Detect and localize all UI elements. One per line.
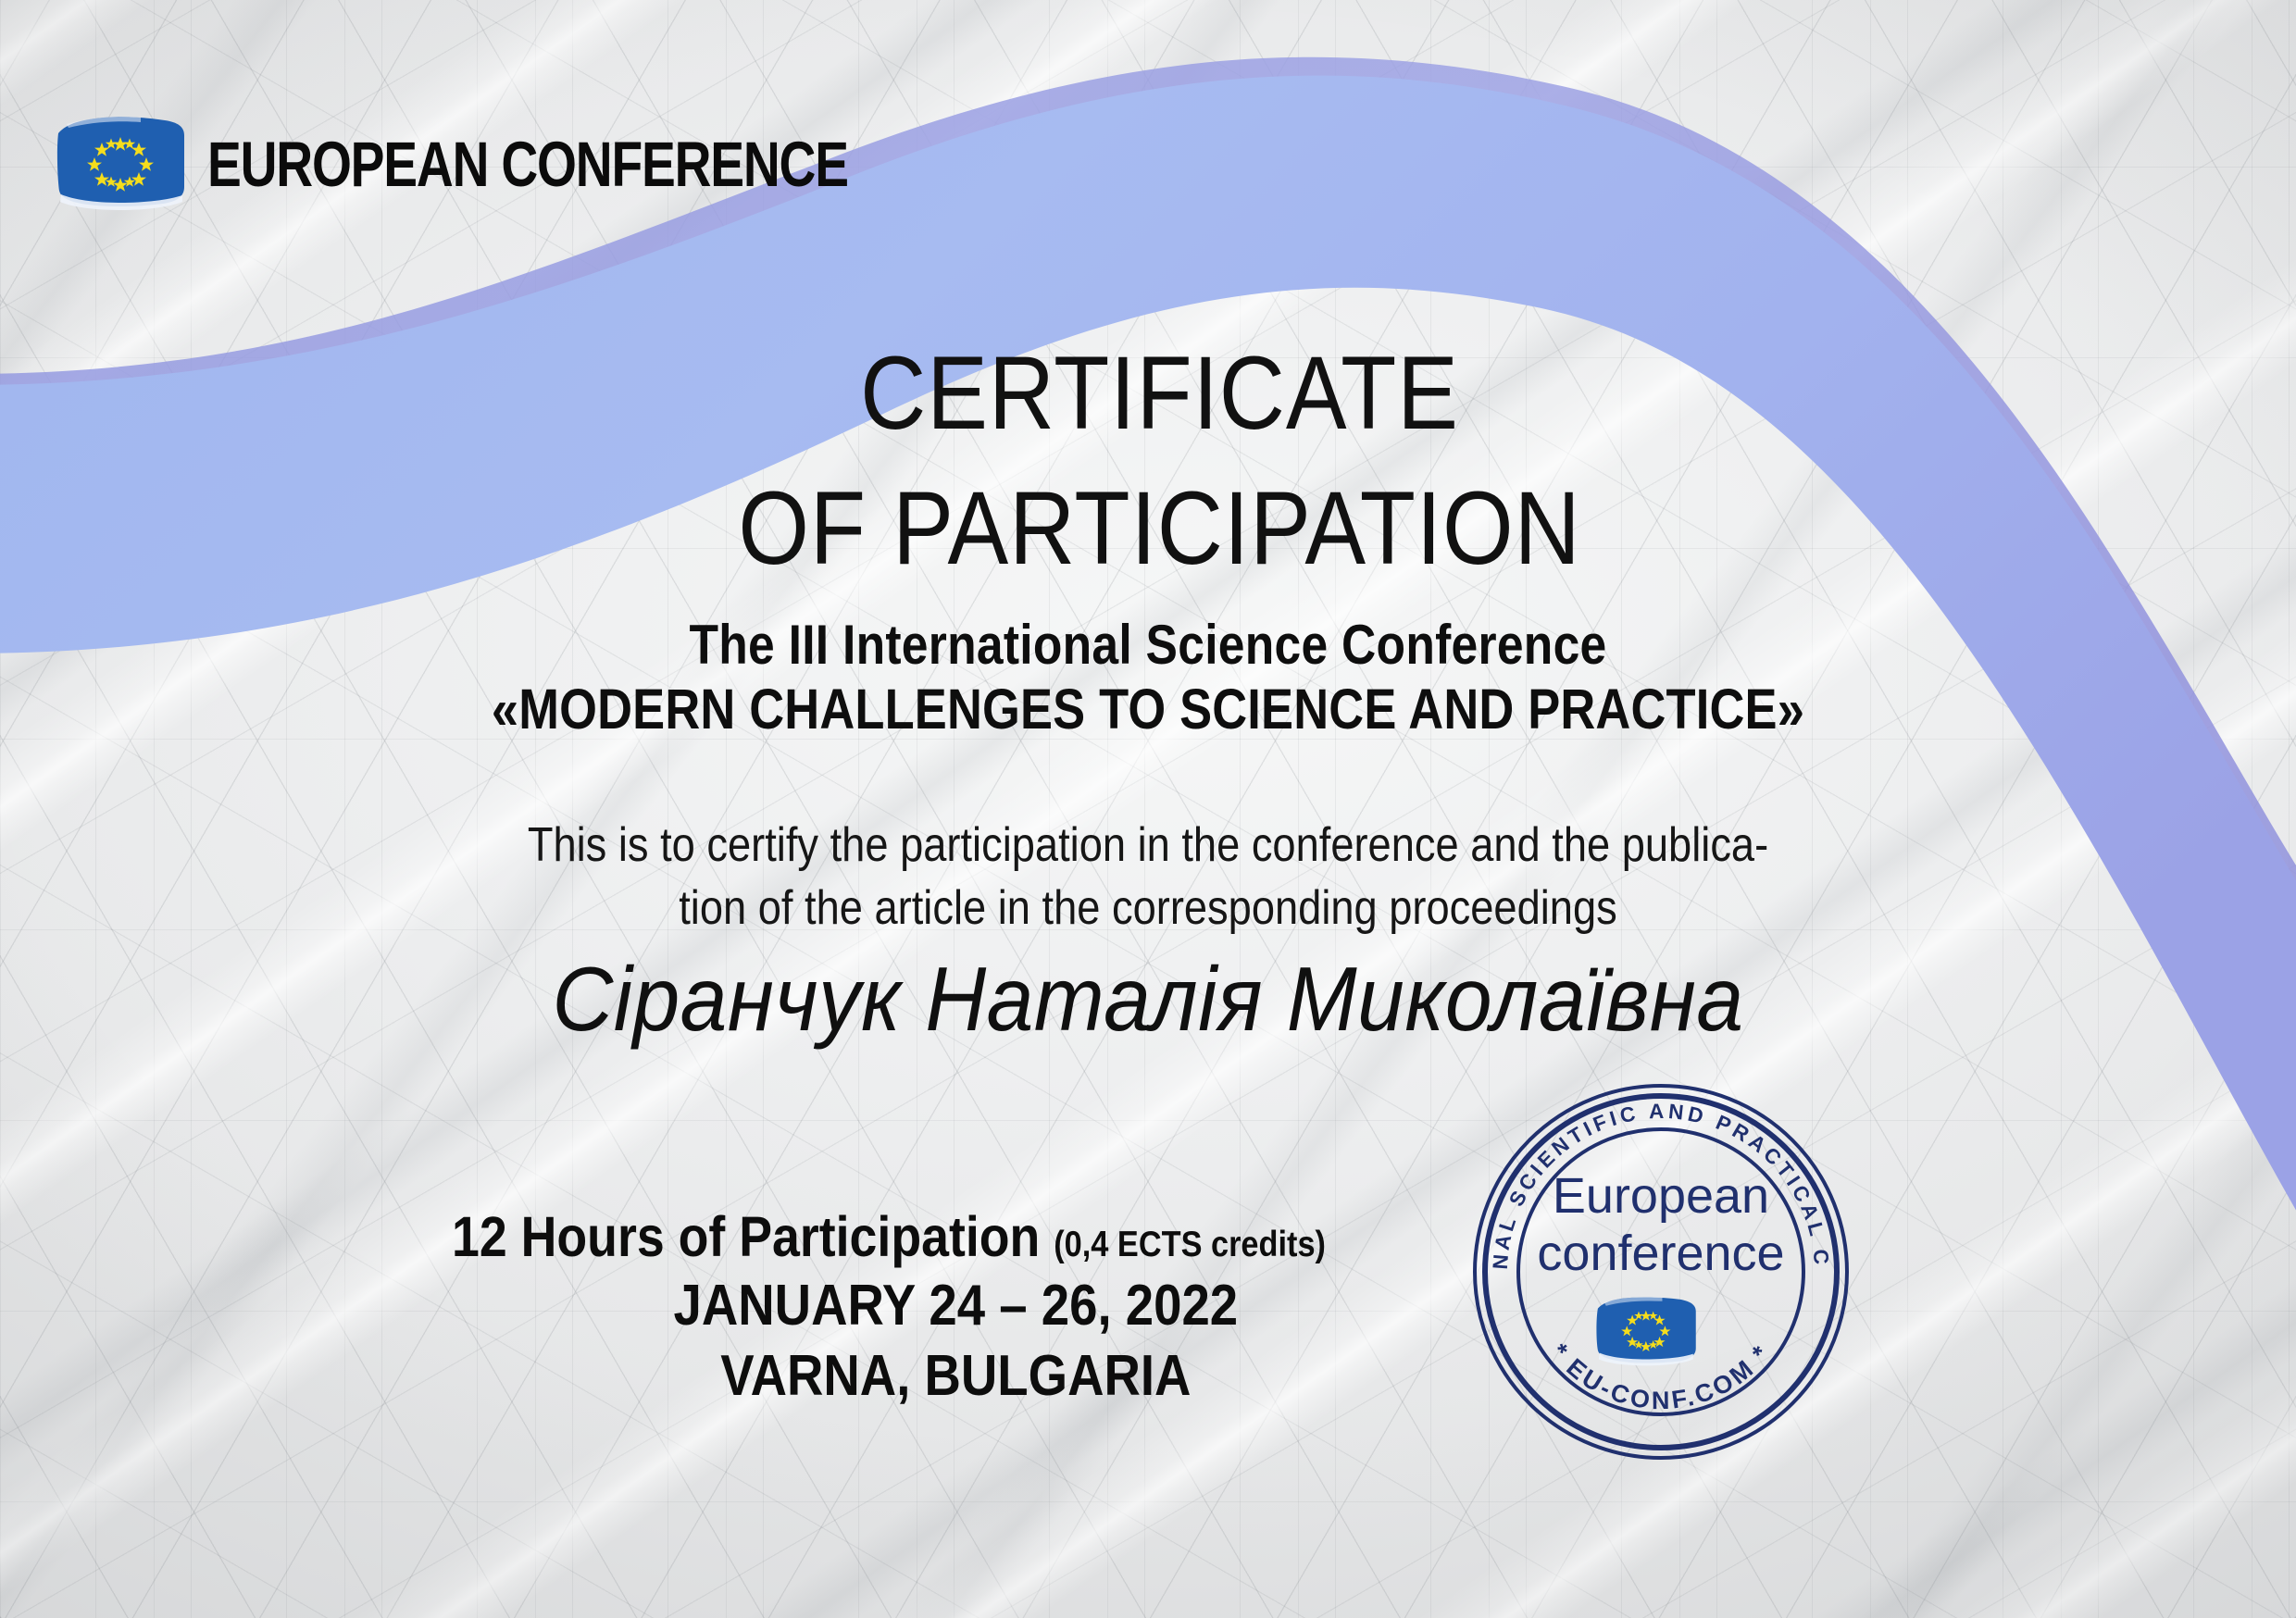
seal-stamp-graphic: INTERNATIONAL SCIENTIFIC AND PRACTICAL C… bbox=[1470, 1081, 1852, 1462]
eu-flag-brush-icon bbox=[52, 109, 191, 218]
title-line-of-participation: OF PARTICIPATION bbox=[159, 461, 2159, 596]
conference-location: VARNA, BULGARIA bbox=[525, 1341, 1386, 1412]
participation-details: 12 Hours of Participation (0,4 ECTS cred… bbox=[452, 1203, 1445, 1411]
page-title: CERTIFICATE OF PARTICIPATION bbox=[0, 326, 2296, 595]
certify-line-2: tion of the article in the corresponding… bbox=[149, 877, 2147, 940]
conference-subtitle: The III International Science Conference bbox=[161, 614, 2136, 677]
certification-statement: This is to certify the participation in … bbox=[0, 815, 2296, 940]
recipient-name: Сіранчук Наталія Миколаївна bbox=[81, 952, 2215, 1047]
certificate-page: EUROPEAN CONFERENCE CERTIFICATE OF PARTI… bbox=[0, 0, 2296, 1618]
conference-dates: JANUARY 24 – 26, 2022 bbox=[525, 1271, 1386, 1341]
title-line-certificate: CERTIFICATE bbox=[159, 326, 2159, 461]
seal-center-line-1: European bbox=[1553, 1168, 1769, 1224]
seal-eu-flag-brush-icon bbox=[1596, 1297, 1695, 1365]
participation-hours-row: 12 Hours of Participation (0,4 ECTS cred… bbox=[452, 1203, 1326, 1271]
header-title: EUROPEAN CONFERENCE bbox=[207, 132, 848, 196]
conference-theme: «MODERN CHALLENGES TO SCIENCE AND PRACTI… bbox=[161, 677, 2136, 742]
official-seal: INTERNATIONAL SCIENTIFIC AND PRACTICAL C… bbox=[1470, 1081, 1852, 1462]
certify-line-1: This is to certify the participation in … bbox=[149, 815, 2147, 877]
participation-hours: 12 Hours of Participation bbox=[452, 1205, 1040, 1268]
recipient-name-block: Сіранчук Наталія Миколаївна bbox=[0, 952, 2296, 1047]
header-logo-block: EUROPEAN CONFERENCE bbox=[52, 109, 1008, 218]
ects-credits: (0,4 ECTS credits) bbox=[1054, 1225, 1326, 1264]
conference-name-block: The III International Science Conference… bbox=[0, 614, 2296, 742]
seal-center-line-2: conference bbox=[1537, 1226, 1784, 1281]
